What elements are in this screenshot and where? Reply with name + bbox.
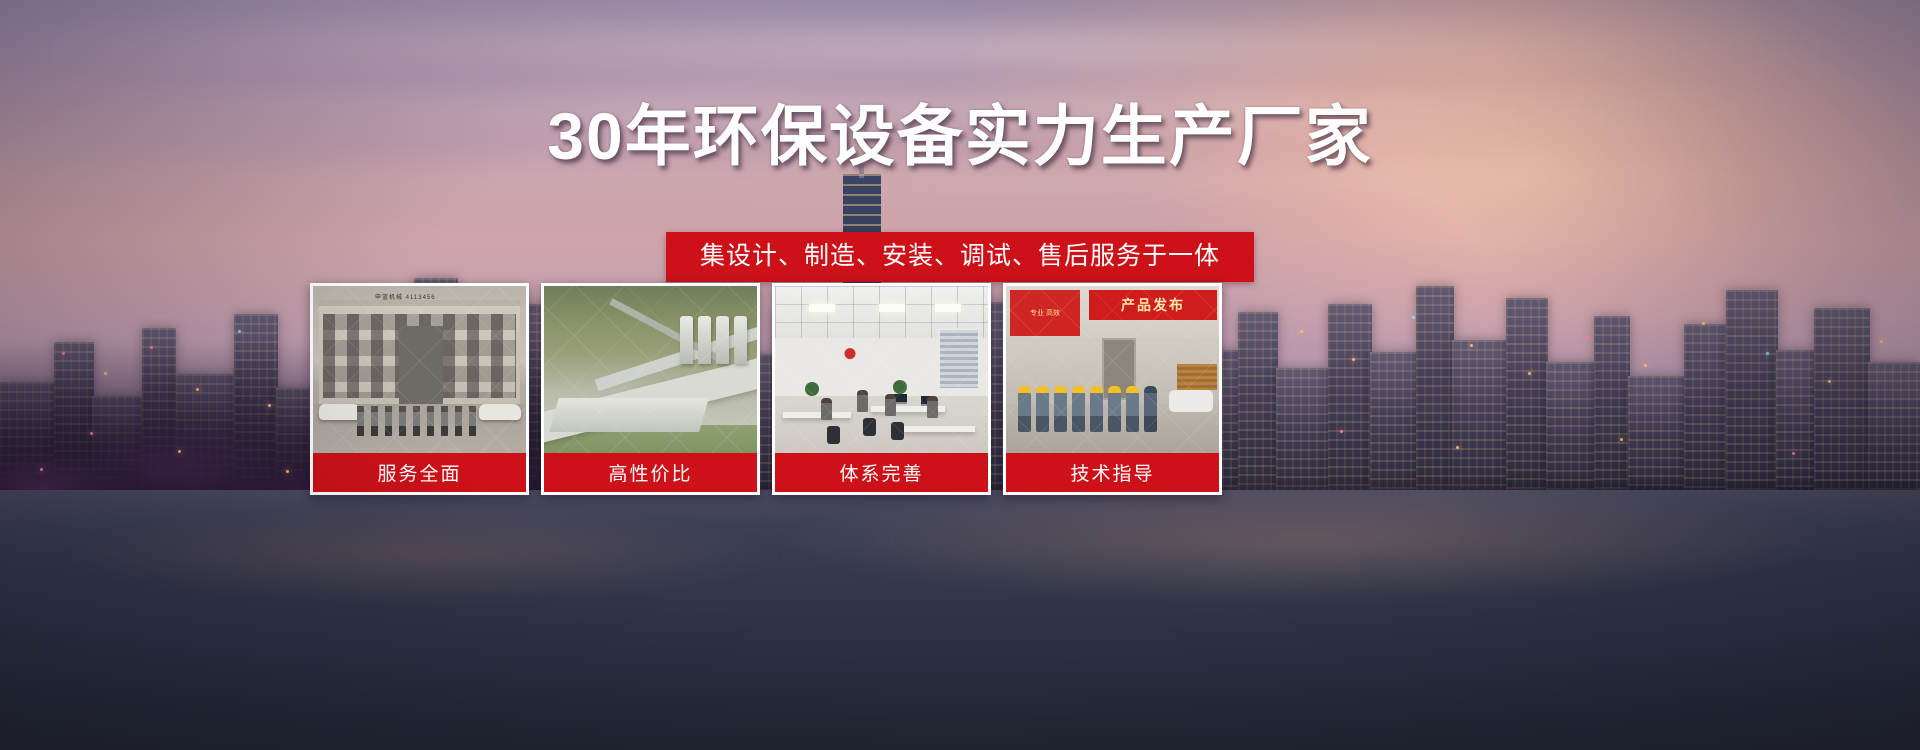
page-title: 30年环保设备实力生产厂家 xyxy=(0,103,1920,169)
feature-card[interactable]: 高性价比 xyxy=(541,283,760,495)
photo-sign-text: 申蓝机械 4113456 xyxy=(375,292,436,301)
feature-card-list: 申蓝机械 4113456 xyxy=(310,283,1270,495)
feature-card[interactable]: 技术指导 xyxy=(1003,283,1222,495)
card-caption: 体系完善 xyxy=(775,453,988,492)
card-caption: 技术指导 xyxy=(1006,453,1219,492)
factory-side-banner xyxy=(1010,290,1080,336)
factory-red-banner xyxy=(1089,290,1217,320)
banner-content: 30年环保设备实力生产厂家 集设计、制造、安装、调试、售后服务于一体 申蓝机械 … xyxy=(0,0,1920,750)
card-photo: 申蓝机械 4113456 xyxy=(313,286,526,459)
card-caption: 服务全面 xyxy=(313,453,526,492)
card-photo xyxy=(544,286,757,459)
tagline-ribbon: 集设计、制造、安装、调试、售后服务于一体 xyxy=(666,232,1254,282)
card-caption: 高性价比 xyxy=(544,453,757,492)
hero-banner: 30年环保设备实力生产厂家 集设计、制造、安装、调试、售后服务于一体 申蓝机械 … xyxy=(0,0,1920,750)
card-photo xyxy=(775,286,988,459)
feature-card[interactable]: 申蓝机械 4113456 xyxy=(310,283,529,495)
tagline-ribbon-wrapper: 集设计、制造、安装、调试、售后服务于一体 xyxy=(0,232,1920,282)
feature-card[interactable]: 体系完善 xyxy=(772,283,991,495)
card-photo xyxy=(1006,286,1219,459)
